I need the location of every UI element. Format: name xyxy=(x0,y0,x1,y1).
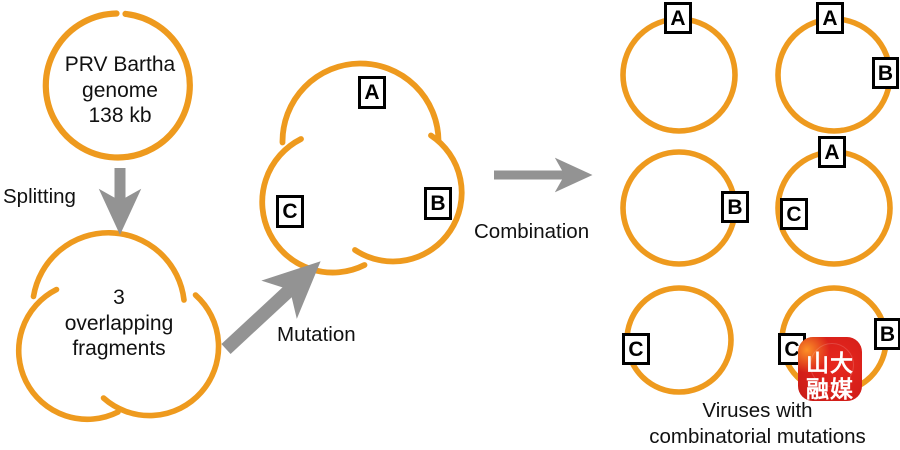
fragments-line-3: fragments xyxy=(34,336,204,362)
fragments-line-1: 3 xyxy=(34,285,204,311)
mark-box-b-mutation: B xyxy=(424,187,452,220)
mark-box-c-result-3-1: C xyxy=(622,333,650,365)
mark-box-a-result-1-1: A xyxy=(664,2,692,34)
mark-box-b-result-3-2: B xyxy=(874,318,900,350)
prv-genome-line-3: 138 kb xyxy=(40,103,200,129)
mark-box-b-result-2-1: B xyxy=(721,191,749,223)
result-circle-2-1 xyxy=(623,152,735,264)
prv-genome-label: PRV Bartha genome 138 kb xyxy=(40,52,200,129)
mark-box-c-mutation: C xyxy=(276,195,304,228)
mark-box-a-result-2-2: A xyxy=(818,136,846,168)
result-circle-1-1 xyxy=(623,19,735,131)
watermark-line-2: 融媒 xyxy=(798,370,862,401)
prv-genome-line-2: genome xyxy=(40,78,200,104)
prv-genome-line-1: PRV Bartha xyxy=(40,52,200,78)
result-caption: Viruses with combinatorial mutations xyxy=(620,398,895,449)
step-label-splitting: Splitting xyxy=(3,185,76,209)
mark-box-b-result-1-2: B xyxy=(872,57,899,89)
mark-box-a-result-1-2: A xyxy=(816,2,844,34)
fragments-label: 3 overlapping fragments xyxy=(34,285,204,362)
watermark-logo: 山大 融媒 xyxy=(798,337,862,401)
step-label-mutation: Mutation xyxy=(277,323,356,347)
mark-box-c-result-2-2: C xyxy=(780,198,808,230)
fragments-line-2: overlapping xyxy=(34,311,204,337)
result-circles-group xyxy=(623,19,890,392)
step-label-combination: Combination xyxy=(474,220,589,244)
mark-box-a-mutation: A xyxy=(358,76,386,109)
